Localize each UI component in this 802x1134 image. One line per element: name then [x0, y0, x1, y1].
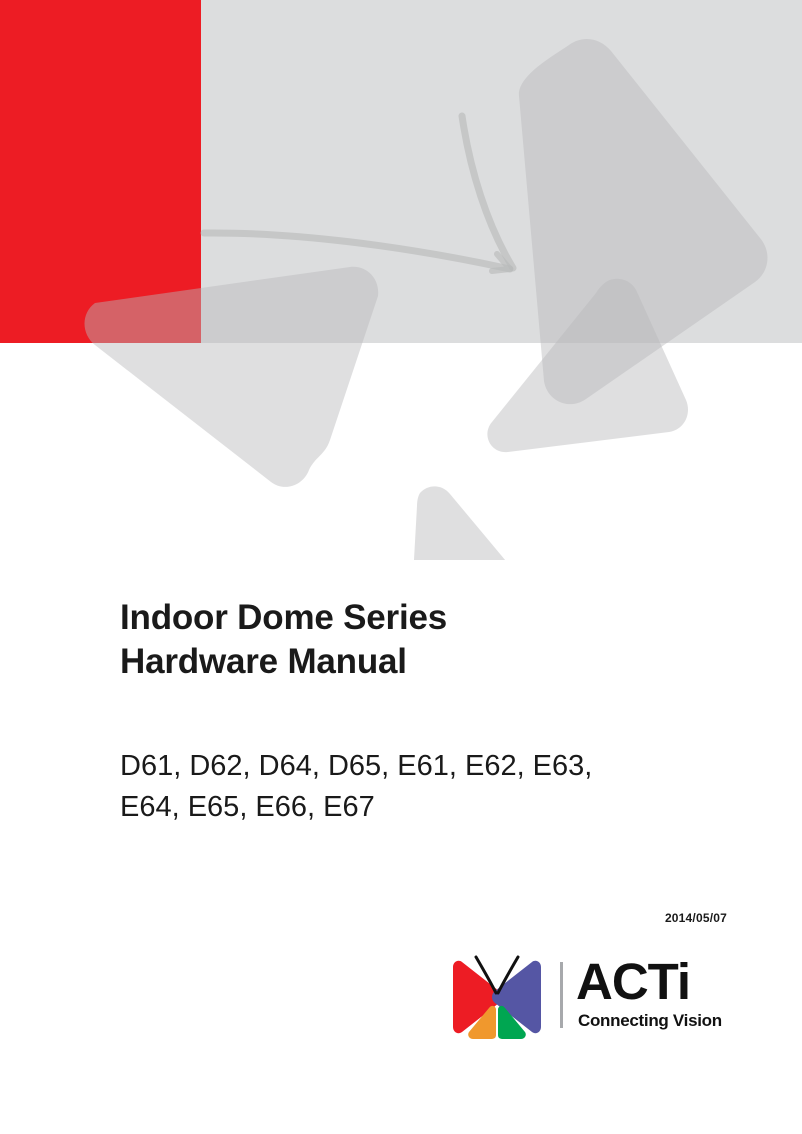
brand-tagline: Connecting Vision — [578, 1010, 722, 1032]
document-cover-page: Indoor Dome Series Hardware Manual D61, … — [0, 0, 802, 1134]
page-title: Indoor Dome Series Hardware Manual — [120, 596, 740, 684]
title-line-2: Hardware Manual — [120, 640, 740, 684]
model-line-2: E64, E65, E66, E67 — [120, 787, 720, 828]
logo-divider — [560, 962, 563, 1028]
model-list: D61, D62, D64, D65, E61, E62, E63, E64, … — [120, 746, 720, 828]
header-red-band — [0, 0, 201, 343]
document-date: 2014/05/07 — [665, 911, 727, 925]
title-line-1: Indoor Dome Series — [120, 596, 740, 640]
butterfly-logo-icon — [443, 955, 551, 1041]
acti-logo: ACTi Connecting Vision — [443, 955, 733, 1041]
brand-name: ACTi — [576, 953, 690, 1011]
model-line-1: D61, D62, D64, D65, E61, E62, E63, — [120, 746, 720, 787]
logo-wordmark: ACTi Connecting Vision — [576, 955, 736, 1041]
